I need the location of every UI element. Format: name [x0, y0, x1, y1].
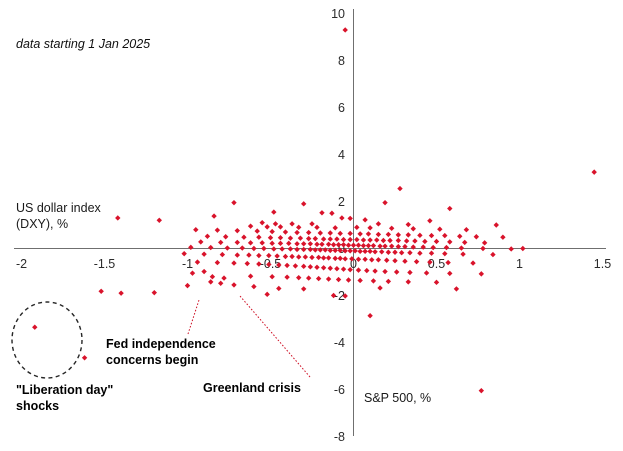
y-tick-label: 2: [338, 195, 345, 209]
data-point: [361, 243, 366, 248]
data-point: [406, 279, 411, 284]
x-tick-label: -1.5: [94, 257, 116, 271]
data-point: [447, 206, 452, 211]
data-point: [115, 215, 120, 220]
data-point: [367, 313, 372, 318]
data-point: [248, 223, 253, 228]
data-point: [288, 246, 293, 251]
y-tick-label: -6: [334, 383, 345, 397]
data-point: [402, 258, 407, 263]
data-point: [223, 234, 228, 239]
y-axis-title-line1: US dollar index: [16, 201, 102, 215]
liberation-day-callout-line2: shocks: [16, 399, 59, 413]
data-point: [241, 235, 246, 240]
data-point: [362, 249, 367, 254]
data-point: [520, 246, 525, 251]
data-point: [406, 222, 411, 227]
y-tick-label: 6: [338, 101, 345, 115]
data-point: [288, 235, 293, 240]
data-point: [314, 242, 319, 247]
y-tick-label: 4: [338, 148, 345, 162]
data-point: [396, 232, 401, 237]
data-point: [334, 266, 339, 271]
data-point: [231, 260, 236, 265]
data-point: [301, 264, 306, 269]
data-point: [371, 278, 376, 283]
data-point: [293, 263, 298, 268]
data-point: [346, 243, 351, 248]
data-point: [442, 233, 447, 238]
data-point: [286, 241, 291, 246]
data-point: [321, 236, 326, 241]
data-point: [354, 225, 359, 230]
data-point: [245, 261, 250, 266]
data-point: [316, 255, 321, 260]
data-point: [225, 245, 230, 250]
data-point: [479, 388, 484, 393]
data-point: [294, 247, 299, 252]
data-point: [369, 257, 374, 262]
data-point: [376, 232, 381, 237]
data-point: [372, 249, 377, 254]
x-tick-label: 1: [516, 257, 523, 271]
data-point: [367, 249, 372, 254]
plot-surface: -2-1.5-1-0.500.511.5 1086420-2-4-6-8 dat…: [0, 0, 623, 451]
data-point: [411, 226, 416, 231]
data-point: [394, 269, 399, 274]
data-point: [268, 235, 273, 240]
data-point: [201, 251, 206, 256]
data-point: [592, 169, 597, 174]
scatter-chart: -2-1.5-1-0.500.511.5 1086420-2-4-6-8 dat…: [0, 0, 623, 451]
data-point: [309, 255, 314, 260]
data-point: [301, 247, 306, 252]
data-point: [445, 260, 450, 265]
data-point: [427, 218, 432, 223]
data-point: [248, 240, 253, 245]
data-point: [269, 241, 274, 246]
data-point: [82, 355, 87, 360]
data-point: [500, 235, 505, 240]
data-point: [464, 227, 469, 232]
data-point: [246, 252, 251, 257]
data-point: [215, 227, 220, 232]
data-point: [381, 238, 386, 243]
data-point: [260, 240, 265, 245]
data-point: [308, 247, 313, 252]
greenland-crisis-callout: Greenland crisis: [203, 381, 301, 395]
data-point: [208, 245, 213, 250]
data-point: [361, 237, 366, 242]
data-point: [188, 245, 193, 250]
data-point: [256, 235, 261, 240]
data-point: [347, 231, 352, 236]
data-point: [329, 211, 334, 216]
data-point: [357, 278, 362, 283]
data-point: [218, 281, 223, 286]
data-point: [319, 210, 324, 215]
data-point: [357, 249, 362, 254]
data-point: [240, 245, 245, 250]
data-point: [278, 224, 283, 229]
data-point: [447, 239, 452, 244]
data-point: [301, 201, 306, 206]
data-point: [210, 274, 215, 279]
fed-independence-callout-line2: concerns begin: [106, 353, 198, 367]
data-point: [306, 230, 311, 235]
data-point: [313, 236, 318, 241]
data-point: [331, 242, 336, 247]
data-start-note: data starting 1 Jan 2025: [16, 37, 150, 51]
data-point: [364, 268, 369, 273]
data-point: [366, 243, 371, 248]
data-point: [118, 290, 123, 295]
data-point: [255, 228, 260, 233]
data-point: [362, 217, 367, 222]
data-point: [447, 271, 452, 276]
data-point: [264, 224, 269, 229]
data-point: [422, 239, 427, 244]
data-point: [424, 270, 429, 275]
data-point: [334, 236, 339, 241]
data-point: [366, 231, 371, 236]
data-point: [382, 269, 387, 274]
data-point: [326, 276, 331, 281]
data-point: [264, 292, 269, 297]
data-point: [372, 268, 377, 273]
data-point: [328, 266, 333, 271]
data-point: [347, 237, 352, 242]
data-point: [444, 245, 449, 250]
data-point: [308, 241, 313, 246]
data-point: [215, 260, 220, 265]
data-point: [273, 221, 278, 226]
data-point: [278, 235, 283, 240]
data-point: [201, 269, 206, 274]
data-point: [235, 228, 240, 233]
data-point: [406, 232, 411, 237]
data-point: [396, 238, 401, 243]
data-point: [454, 286, 459, 291]
data-point: [269, 274, 274, 279]
data-point: [333, 225, 338, 230]
data-point: [301, 241, 306, 246]
data-point: [457, 234, 462, 239]
data-point: [479, 271, 484, 276]
data-point: [211, 213, 216, 218]
data-point: [480, 246, 485, 251]
data-point: [407, 270, 412, 275]
data-point: [316, 276, 321, 281]
data-point: [308, 264, 313, 269]
data-point: [392, 258, 397, 263]
data-point: [376, 257, 381, 262]
data-point: [338, 231, 343, 236]
data-point: [474, 234, 479, 239]
data-point: [341, 266, 346, 271]
liberation-day-callout-line1: "Liberation day": [16, 383, 113, 397]
data-point: [208, 279, 213, 284]
data-point: [269, 229, 274, 234]
data-point: [470, 260, 475, 265]
data-point: [328, 230, 333, 235]
y-tick-label: -4: [334, 336, 345, 350]
data-point: [384, 258, 389, 263]
data-point: [386, 279, 391, 284]
data-point: [181, 251, 186, 256]
data-point: [417, 233, 422, 238]
data-point: [326, 242, 331, 247]
data-point: [460, 251, 465, 256]
data-point: [185, 283, 190, 288]
greenland-leader-line: [240, 296, 310, 377]
data-point: [296, 254, 301, 259]
data-point: [301, 286, 306, 291]
data-point: [296, 275, 301, 280]
fed-independence-callout-line1: Fed independence: [106, 337, 216, 351]
data-point: [404, 238, 409, 243]
data-point: [362, 257, 367, 262]
data-point: [417, 251, 422, 256]
data-point: [430, 245, 435, 250]
data-point: [321, 255, 326, 260]
data-point: [356, 243, 361, 248]
data-point: [289, 221, 294, 226]
data-point: [374, 237, 379, 242]
data-point: [389, 226, 394, 231]
data-point: [221, 275, 226, 280]
y-tick-labels: 1086420-2-4-6-8: [331, 7, 345, 444]
data-point: [377, 285, 382, 290]
data-point: [314, 225, 319, 230]
data-point: [386, 250, 391, 255]
data-point: [336, 277, 341, 282]
data-point: [333, 256, 338, 261]
data-point: [326, 255, 331, 260]
y-tick-label: -8: [334, 430, 345, 444]
data-point: [357, 231, 362, 236]
data-point: [321, 265, 326, 270]
data-point: [429, 233, 434, 238]
data-point: [386, 232, 391, 237]
data-point: [509, 246, 514, 251]
data-point: [193, 227, 198, 232]
data-point: [306, 236, 311, 241]
data-point: [284, 274, 289, 279]
data-point: [392, 250, 397, 255]
data-point: [98, 289, 103, 294]
data-point: [303, 254, 308, 259]
x-tick-label: -2: [16, 257, 27, 271]
data-point: [319, 242, 324, 247]
data-point: [399, 250, 404, 255]
data-point: [276, 286, 281, 291]
x-tick-labels: -2-1.5-1-0.500.511.5: [16, 257, 611, 271]
data-point: [218, 240, 223, 245]
data-point: [271, 209, 276, 214]
data-point: [462, 240, 467, 245]
data-point: [339, 215, 344, 220]
data-point: [283, 254, 288, 259]
data-point: [434, 280, 439, 285]
data-point: [314, 265, 319, 270]
data-point: [306, 275, 311, 280]
data-point: [338, 256, 343, 261]
data-point: [294, 230, 299, 235]
data-point: [278, 241, 283, 246]
data-point: [32, 325, 37, 330]
data-point: [371, 243, 376, 248]
data-point: [346, 277, 351, 282]
data-point: [482, 240, 487, 245]
data-point: [294, 241, 299, 246]
data-point: [251, 284, 256, 289]
data-point: [309, 221, 314, 226]
data-point: [220, 252, 225, 257]
data-point: [283, 229, 288, 234]
data-point: [434, 239, 439, 244]
data-point: [367, 225, 372, 230]
data-point: [271, 246, 276, 251]
data-point: [261, 246, 266, 251]
data-point: [279, 246, 284, 251]
data-point: [195, 259, 200, 264]
data-point: [231, 200, 236, 205]
y-tick-label: 10: [331, 7, 345, 21]
data-point: [343, 256, 348, 261]
data-point: [289, 254, 294, 259]
x-tick-label: -1: [182, 257, 193, 271]
data-point: [260, 220, 265, 225]
data-point: [231, 282, 236, 287]
y-tick-label: 8: [338, 54, 345, 68]
data-point: [412, 238, 417, 243]
data-point: [414, 259, 419, 264]
data-point: [328, 236, 333, 241]
data-point: [198, 239, 203, 244]
y-axis-title-line2: (DXY), %: [16, 217, 68, 231]
data-point: [387, 238, 392, 243]
data-point: [437, 227, 442, 232]
x-tick-label: 1.5: [594, 257, 611, 271]
data-point: [429, 251, 434, 256]
data-point: [296, 225, 301, 230]
data-point: [354, 237, 359, 242]
data-point: [494, 222, 499, 227]
fed-independence-leader-line: [188, 300, 199, 334]
data-point: [248, 274, 253, 279]
data-point: [351, 243, 356, 248]
data-point: [318, 230, 323, 235]
data-point: [235, 240, 240, 245]
data-point: [382, 200, 387, 205]
data-point: [347, 216, 352, 221]
data-point: [284, 263, 289, 268]
data-point: [157, 218, 162, 223]
data-point: [397, 186, 402, 191]
data-point: [343, 27, 348, 32]
data-point: [407, 250, 412, 255]
data-point: [459, 245, 464, 250]
data-point: [376, 221, 381, 226]
data-point: [490, 252, 495, 257]
data-point: [235, 252, 240, 257]
data-point: [251, 246, 256, 251]
data-point: [379, 249, 384, 254]
liberation-day-highlight-ellipse: [12, 302, 82, 378]
data-point: [190, 270, 195, 275]
data-point: [367, 237, 372, 242]
data-point: [298, 235, 303, 240]
data-point: [205, 234, 210, 239]
x-axis-title: S&P 500, %: [364, 391, 431, 405]
data-point: [152, 290, 157, 295]
data-point: [442, 251, 447, 256]
